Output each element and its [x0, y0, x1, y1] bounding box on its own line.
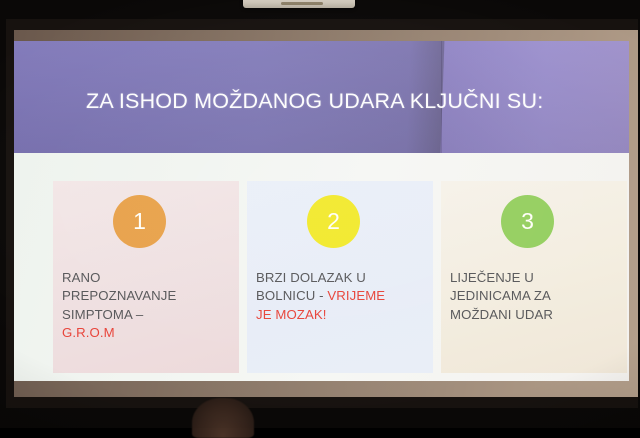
slide-card-2: 2 BRZI DOLAZAK U BOLNICU - VRIJEME JE MO… — [247, 181, 433, 373]
slide-header-band: ZA ISHOD MOŽDANOG UDARA KLJUČNI SU: — [14, 41, 629, 153]
slide-card-3-text: LIJEČENJE U JEDINICAMA ZA MOŽDANI UDAR — [450, 269, 626, 324]
card-2-line-2-prefix: BOLNICU - — [256, 288, 327, 303]
audience-head-silhouette — [192, 398, 254, 438]
card-1-line-4-highlight: G.R.O.M — [62, 325, 115, 340]
projection-screen-surface: ZA ISHOD MOŽDANOG UDARA KLJUČNI SU: 1 RA… — [14, 30, 638, 397]
card-2-line-1: BRZI DOLAZAK U — [256, 270, 366, 285]
slide-card-1-text: RANO PREPOZNAVANJE SIMPTOMA – G.R.O.M — [62, 269, 238, 343]
ceiling-light-fixture — [243, 0, 355, 8]
card-3-line-1: LIJEČENJE U — [450, 270, 534, 285]
slide-title: ZA ISHOD MOŽDANOG UDARA KLJUČNI SU: — [86, 89, 543, 114]
card-3-line-3: MOŽDANI UDAR — [450, 307, 553, 322]
slide-card-1: 1 RANO PREPOZNAVANJE SIMPTOMA – G.R.O.M — [53, 181, 239, 373]
projection-screen-frame: ZA ISHOD MOŽDANOG UDARA KLJUČNI SU: 1 RA… — [6, 19, 638, 408]
step-badge-2: 2 — [307, 195, 360, 248]
step-number-3: 3 — [521, 210, 534, 233]
slide-card-3: 3 LIJEČENJE U JEDINICAMA ZA MOŽDANI UDAR — [441, 181, 627, 373]
step-number-2: 2 — [327, 210, 340, 233]
card-2-line-3-highlight: JE MOZAK! — [256, 307, 327, 322]
step-badge-1: 1 — [113, 195, 166, 248]
card-1-line-3: SIMPTOMA – — [62, 307, 143, 322]
presentation-slide: ZA ISHOD MOŽDANOG UDARA KLJUČNI SU: 1 RA… — [14, 41, 629, 381]
card-3-line-2: JEDINICAMA ZA — [450, 288, 551, 303]
card-1-line-2: PREPOZNAVANJE — [62, 288, 176, 303]
dark-room-background: ZA ISHOD MOŽDANOG UDARA KLJUČNI SU: 1 RA… — [0, 0, 640, 428]
slide-body: 1 RANO PREPOZNAVANJE SIMPTOMA – G.R.O.M … — [14, 153, 629, 381]
step-badge-3: 3 — [501, 195, 554, 248]
step-number-1: 1 — [133, 210, 146, 233]
card-2-line-2-highlight: VRIJEME — [327, 288, 385, 303]
card-1-line-1: RANO — [62, 270, 101, 285]
slide-card-2-text: BRZI DOLAZAK U BOLNICU - VRIJEME JE MOZA… — [256, 269, 432, 324]
